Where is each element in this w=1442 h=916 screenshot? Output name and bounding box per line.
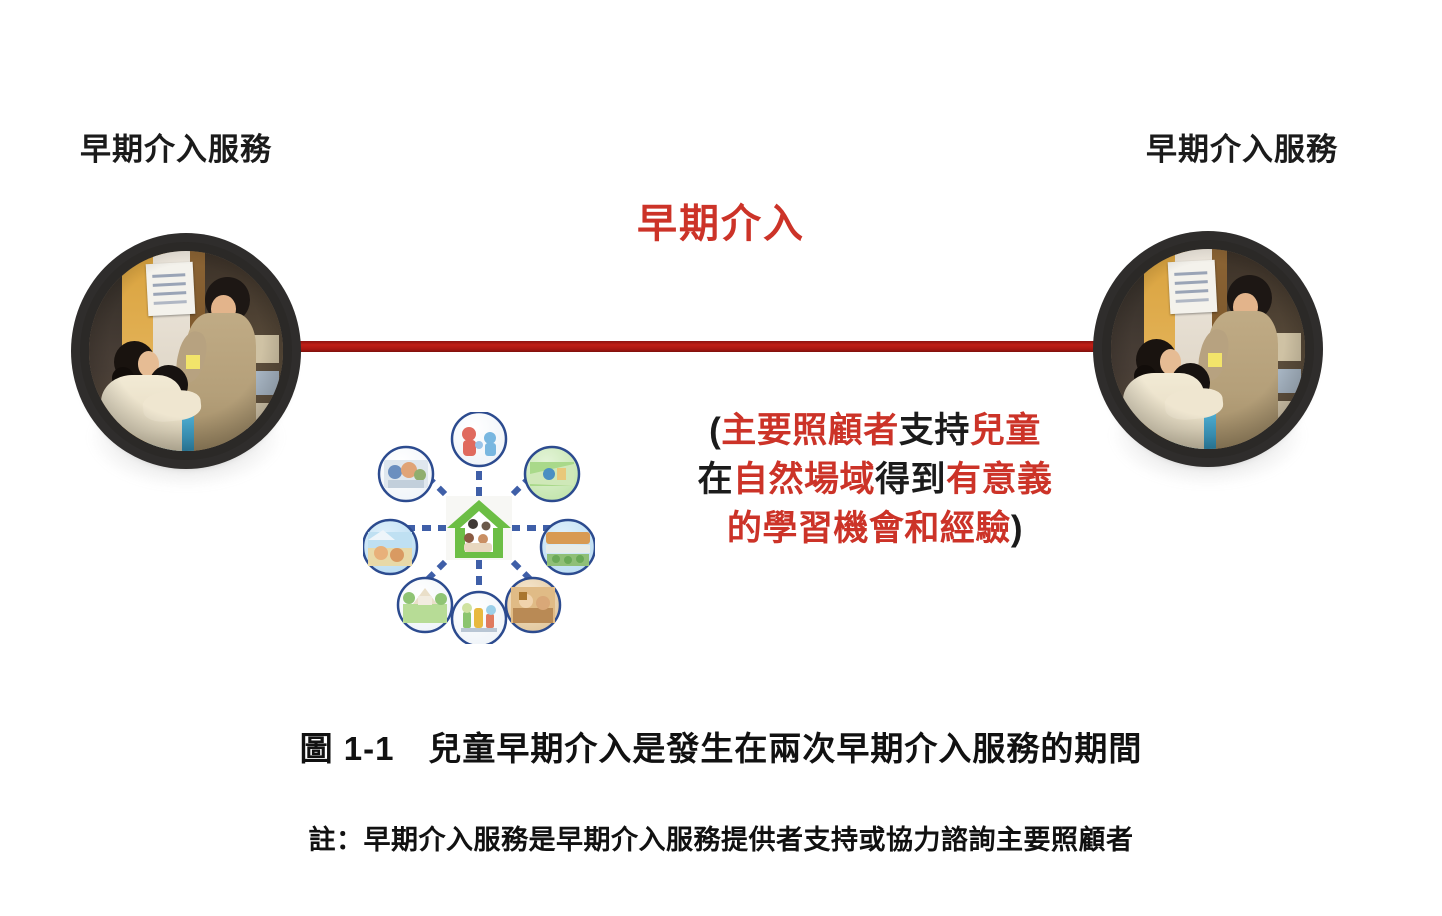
statement-line-3: 的學習機會和經驗) (640, 504, 1110, 553)
statement-meaningful: 有意義 (946, 460, 1053, 499)
ecomap-node-8 (379, 447, 433, 501)
figure-caption: 圖 1-1 兒童早期介入是發生在兩次早期介入服務的期間 (0, 722, 1442, 770)
ecomap-node-5 (452, 592, 506, 644)
right-photo (1102, 240, 1314, 462)
statement-caregiver: 主要照顧者 (721, 411, 899, 450)
ecomap-node-4 (506, 578, 560, 632)
statement-open-paren: ( (709, 411, 721, 450)
ecomap-node-7 (363, 520, 417, 574)
ecomap-center-house (446, 496, 512, 560)
statement-natural-environment: 自然場域 (733, 460, 875, 499)
right-photo-circle-frame (1102, 240, 1314, 458)
statement-child: 兒童 (970, 411, 1041, 450)
ecomap-node-6 (398, 578, 452, 632)
statement-line-2: 在自然場域得到有意義 (640, 455, 1110, 504)
statement-at: 在 (697, 460, 733, 499)
ecomap-node-1 (452, 412, 506, 466)
statement-paragraph: (主要照顧者支持兒童 在自然場域得到有意義 的學習機會和經驗) (640, 406, 1110, 553)
ecomap-node-2 (525, 447, 579, 501)
statement-line-1: (主要照顧者支持兒童 (640, 406, 1110, 455)
left-photo-image (89, 251, 283, 451)
statement-support: 支持 (899, 411, 970, 450)
left-service-label: 早期介入服務 (80, 124, 272, 169)
statement-obtain: 得到 (875, 460, 946, 499)
ecomap-node-3 (541, 520, 595, 574)
right-photo-image (1111, 249, 1305, 449)
left-photo (80, 242, 292, 464)
right-service-label: 早期介入服務 (1146, 124, 1338, 169)
timeline-connector-line (286, 341, 1108, 352)
figure-note: 註：早期介入服務是早期介入服務提供者支持或協力諮詢主要照顧者 (0, 818, 1442, 857)
left-photo-circle-frame (80, 242, 292, 460)
statement-close-paren: ) (1011, 509, 1023, 548)
statement-learning-opportunities: 的學習機會和經驗 (727, 509, 1011, 548)
natural-environments-ecomap (363, 412, 595, 644)
